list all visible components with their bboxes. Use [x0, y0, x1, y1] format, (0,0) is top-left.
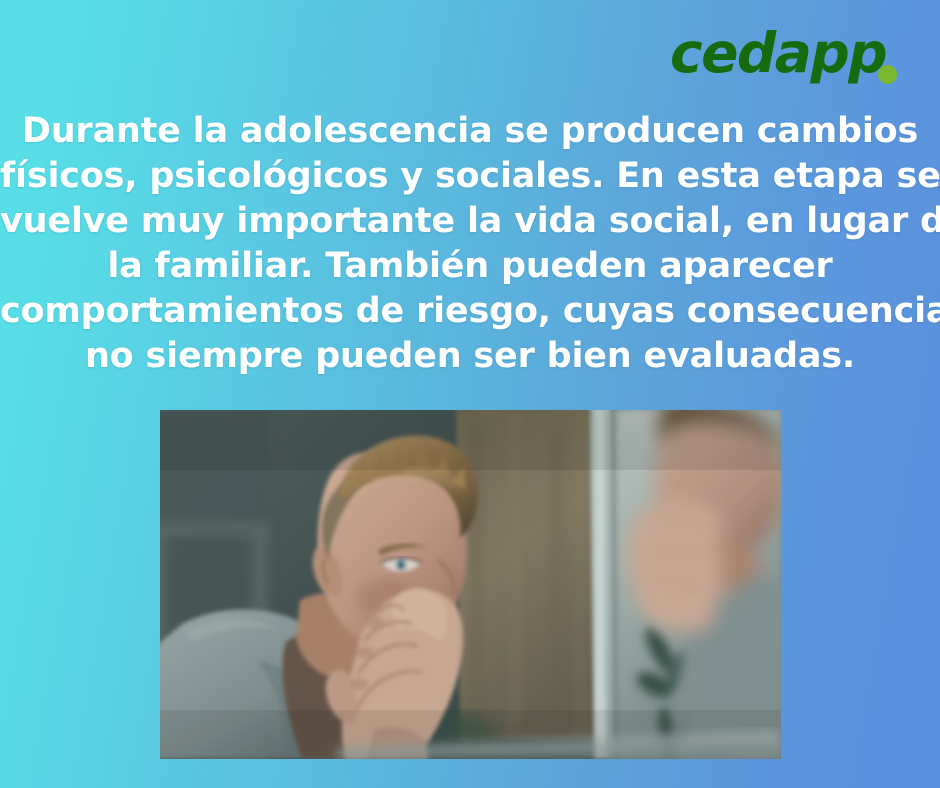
headline-line-4: la familiar. También pueden aparecer — [0, 244, 940, 289]
headline-line-2: físicos, psicológicos y sociales. En est… — [0, 154, 940, 199]
headline-line-5: comportamientos de riesgo, cuyas consecu… — [0, 289, 940, 334]
headline-line-6: no siempre pueden ser bien evaluadas. — [0, 334, 940, 379]
cedapp-logo[interactable]: cedapp — [670, 22, 910, 92]
headline-text: Durante la adolescencia se producen camb… — [0, 109, 940, 379]
headline-line-1: Durante la adolescencia se producen camb… — [0, 109, 940, 154]
headline-line-3: vuelve muy importante la vida social, en… — [0, 199, 940, 244]
logo-wordmark: cedapp — [670, 22, 886, 84]
photo-teen-mirror — [160, 410, 781, 759]
logo-dot-icon — [878, 65, 897, 84]
poster-canvas: cedapp Durante la adolescencia se produc… — [0, 0, 940, 788]
photo-illustration — [160, 410, 781, 759]
